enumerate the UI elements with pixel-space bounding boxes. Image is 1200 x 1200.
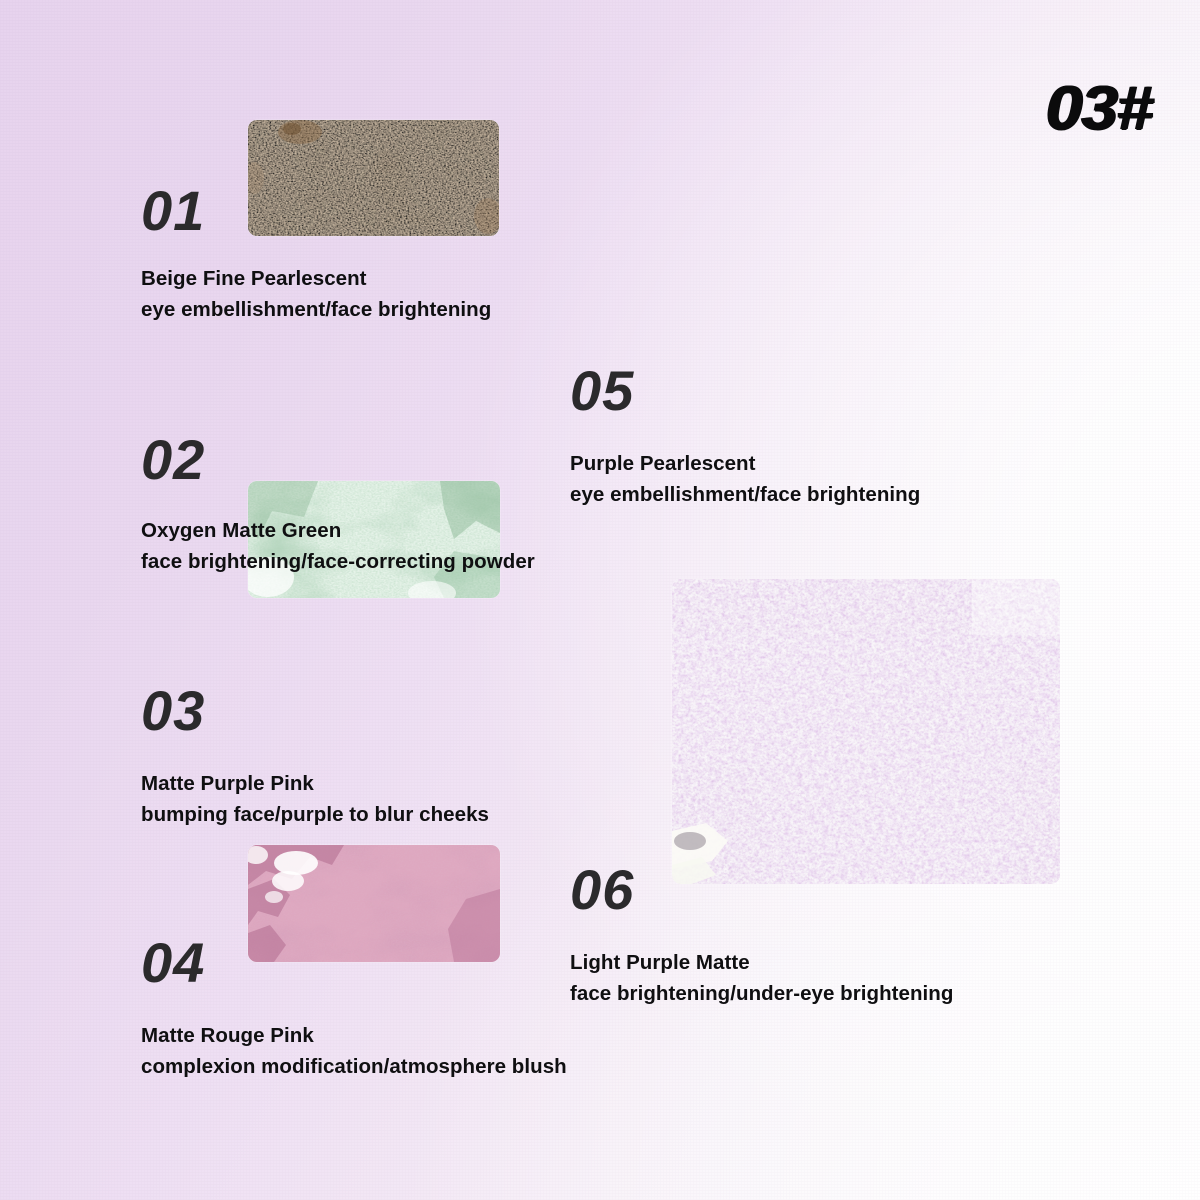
- shade-caption-05: Purple Pearlescent eye embellishment/fac…: [570, 448, 920, 510]
- shade-caption-04: Matte Rouge Pink complexion modification…: [141, 1020, 567, 1082]
- shade-numeral-02: 02: [141, 432, 205, 488]
- swatch-texture-03: [248, 845, 500, 962]
- shade-usage-04: complexion modification/atmosphere blush: [141, 1051, 567, 1082]
- shade-numeral-01: 01: [141, 183, 205, 239]
- shade-numeral-03: 03: [141, 683, 205, 739]
- shade-usage-06: face brightening/under-eye brightening: [570, 978, 953, 1009]
- shade-usage-03: bumping face/purple to blur cheeks: [141, 799, 489, 830]
- shade-caption-01: Beige Fine Pearlescent eye embellishment…: [141, 263, 491, 325]
- shade-usage-01: eye embellishment/face brightening: [141, 294, 491, 325]
- shade-numeral-04: 04: [141, 935, 205, 991]
- shade-name-05: Purple Pearlescent: [570, 448, 920, 479]
- shade-usage-05: eye embellishment/face brightening: [570, 479, 920, 510]
- shade-numeral-05: 05: [570, 363, 634, 419]
- shade-name-03: Matte Purple Pink: [141, 768, 489, 799]
- shade-name-01: Beige Fine Pearlescent: [141, 263, 491, 294]
- shade-caption-06: Light Purple Matte face brightening/unde…: [570, 947, 953, 1009]
- swatch-beige-fine-pearlescent[interactable]: [248, 120, 499, 236]
- swatch-matte-purple-pink[interactable]: [248, 845, 500, 962]
- shade-numeral-06: 06: [570, 862, 634, 918]
- shade-name-02: Oxygen Matte Green: [141, 515, 535, 546]
- shade-name-04: Matte Rouge Pink: [141, 1020, 567, 1051]
- sku-badge: 03#: [1046, 78, 1152, 140]
- swatch-purple-pearlescent[interactable]: [672, 579, 1060, 884]
- shade-name-06: Light Purple Matte: [570, 947, 953, 978]
- shade-caption-03: Matte Purple Pink bumping face/purple to…: [141, 768, 489, 830]
- swatch-texture-05: [672, 579, 1060, 884]
- shade-caption-02: Oxygen Matte Green face brightening/face…: [141, 515, 535, 577]
- shade-usage-02: face brightening/face-correcting powder: [141, 546, 535, 577]
- swatch-texture-01: [248, 120, 499, 236]
